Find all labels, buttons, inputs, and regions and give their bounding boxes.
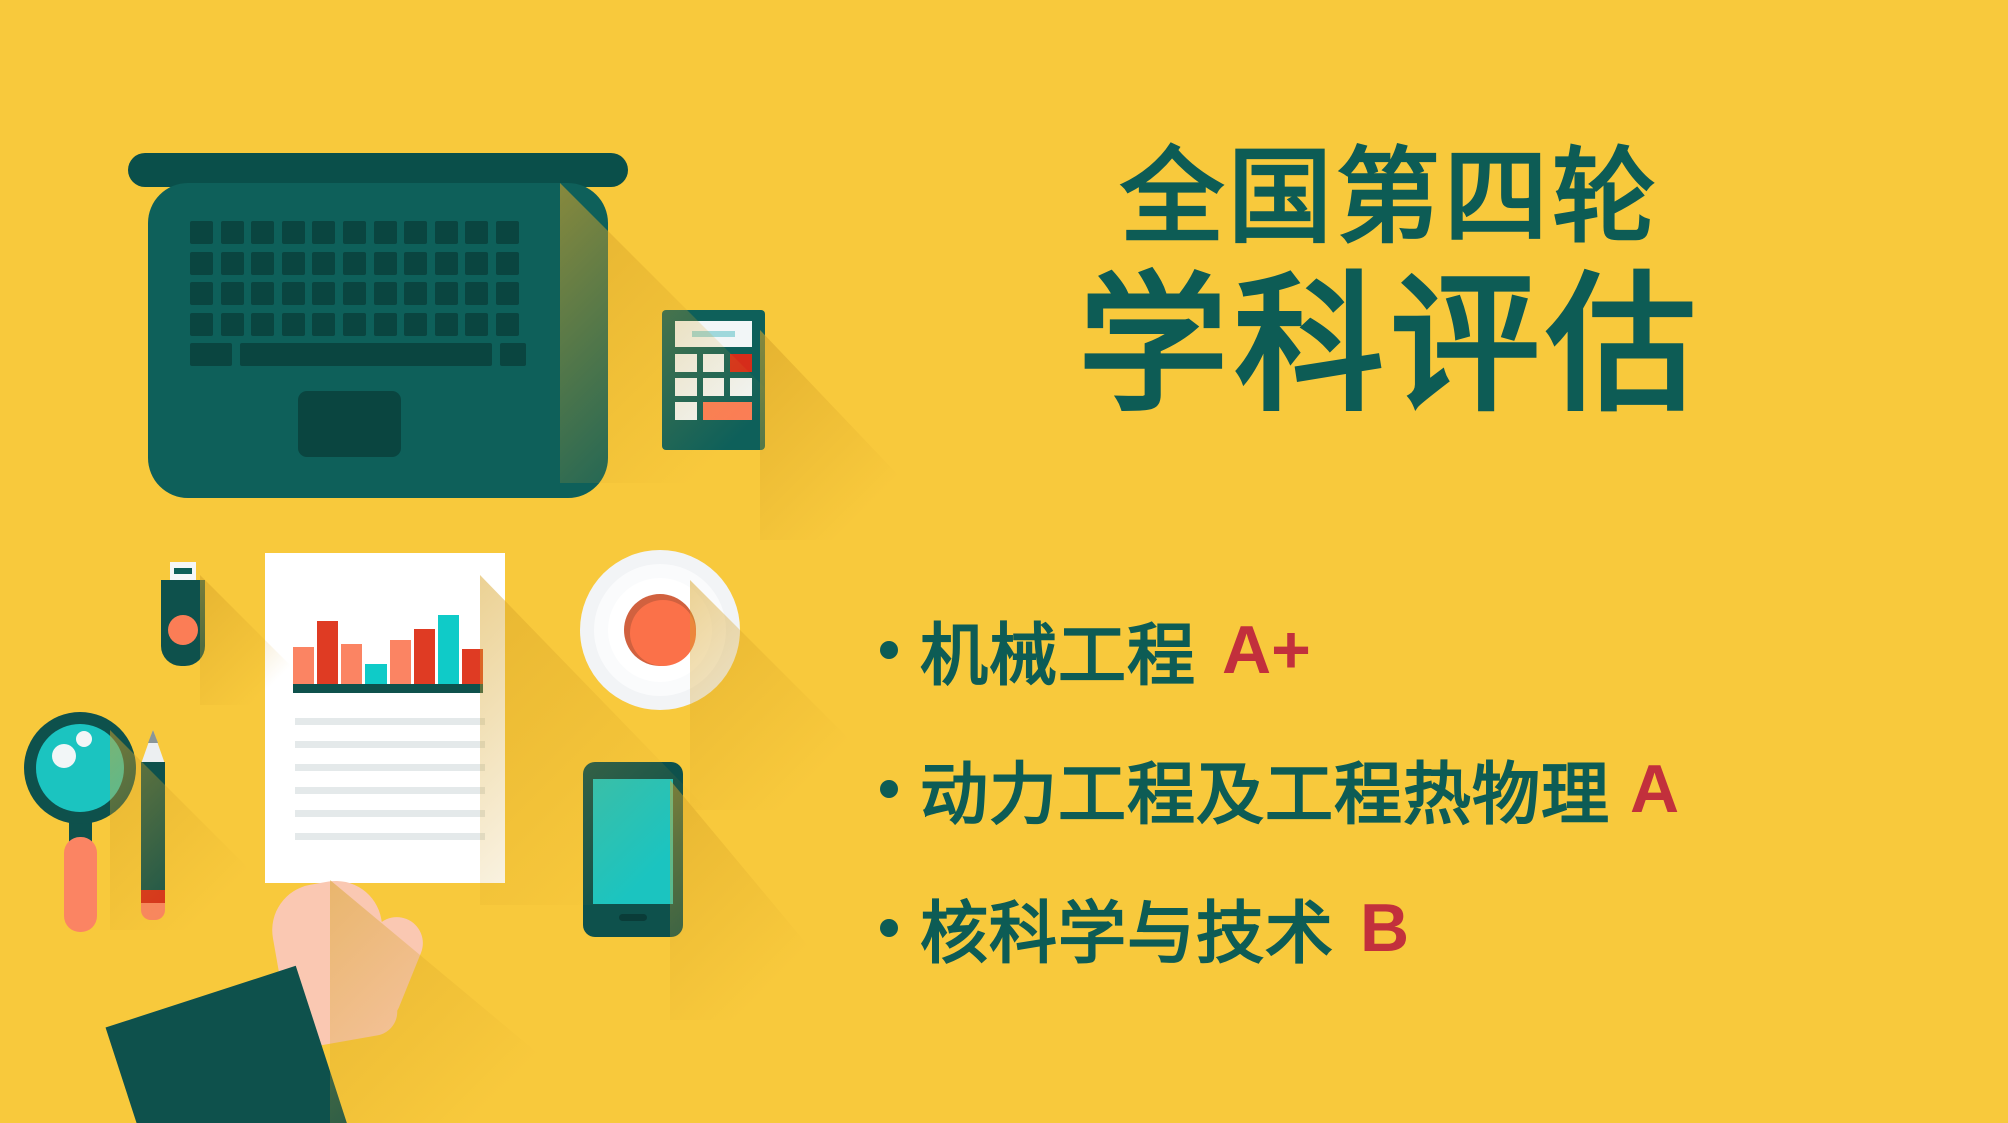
key-modifier-right	[500, 343, 526, 366]
discipline-grade: B	[1360, 889, 1409, 967]
keyboard-row	[190, 252, 526, 275]
bullet-icon	[880, 780, 898, 798]
chart-bar	[365, 664, 386, 684]
phone-screen	[593, 779, 673, 904]
calculator-keys	[675, 354, 752, 426]
calculator-icon	[662, 310, 765, 450]
calculator-key-equals	[703, 402, 752, 420]
bullet-icon	[880, 919, 898, 937]
discipline-grade: A+	[1222, 611, 1311, 689]
discipline-list: 机械工程 A+ 动力工程及工程热物理 A 核科学与技术 B	[880, 600, 2000, 1017]
usb-drive-icon	[161, 562, 205, 666]
phone-long-shadow	[670, 780, 870, 1020]
laptop-icon	[128, 153, 628, 498]
list-item: 机械工程 A+	[880, 600, 2000, 699]
chart-bar	[317, 621, 338, 684]
smartphone-icon	[583, 762, 683, 937]
document-text-line	[295, 810, 485, 817]
laptop-keyboard	[190, 221, 526, 366]
list-item: 动力工程及工程热物理 A	[880, 739, 2000, 838]
document-text-line	[295, 764, 485, 771]
pencil-lead	[148, 730, 158, 743]
calculator-key-red	[730, 354, 752, 372]
keyboard-bottom-row	[190, 343, 526, 366]
chart-bar	[462, 649, 483, 684]
chart-bar	[390, 640, 411, 684]
chart-baseline	[293, 684, 483, 693]
key-modifier-left	[190, 343, 232, 366]
document-text-line	[295, 787, 485, 794]
illustration-group	[0, 0, 820, 1123]
keyboard-row	[190, 282, 526, 305]
document-bar-chart	[293, 593, 483, 693]
keyboard-row	[190, 221, 526, 244]
magnifier-highlight	[76, 731, 92, 747]
document-text-line	[295, 741, 485, 748]
chart-bar	[414, 629, 435, 684]
chart-bar	[293, 647, 314, 684]
headline-line-2: 学科评估	[860, 260, 1920, 433]
discipline-name: 动力工程及工程热物理	[920, 739, 1610, 838]
magnifier-handle	[64, 837, 97, 932]
discipline-name: 机械工程	[920, 600, 1196, 699]
discipline-name: 核科学与技术	[920, 878, 1334, 977]
chart-bar	[341, 644, 362, 684]
chart-bar	[438, 615, 459, 684]
laptop-trackpad	[298, 391, 401, 457]
usb-slot	[174, 568, 192, 574]
key-spacebar	[240, 343, 493, 366]
coffee-liquid	[630, 600, 696, 666]
usb-indicator-dot	[168, 615, 198, 645]
calculator-screen-line	[692, 331, 735, 337]
poster-canvas: 全国第四轮 学科评估 机械工程 A+ 动力工程及工程热物理 A 核科学与技术 B	[0, 0, 2008, 1123]
magnifier-icon	[22, 712, 140, 912]
document-text-line	[295, 718, 485, 725]
hand-icon	[130, 820, 460, 1123]
magnifier-highlight	[52, 744, 76, 768]
list-item: 核科学与技术 B	[880, 878, 2000, 977]
keyboard-row	[190, 313, 526, 336]
bullet-icon	[880, 641, 898, 659]
headline-block: 全国第四轮 学科评估	[860, 140, 1920, 433]
discipline-grade: A	[1630, 750, 1679, 828]
text-content: 全国第四轮 学科评估 机械工程 A+ 动力工程及工程热物理 A 核科学与技术 B	[860, 0, 2008, 1123]
laptop-lid	[128, 153, 628, 187]
calculator-screen	[675, 321, 752, 347]
coffee-cup-icon	[580, 550, 740, 710]
headline-line-1: 全国第四轮	[860, 140, 1920, 254]
phone-home-button	[619, 914, 647, 921]
